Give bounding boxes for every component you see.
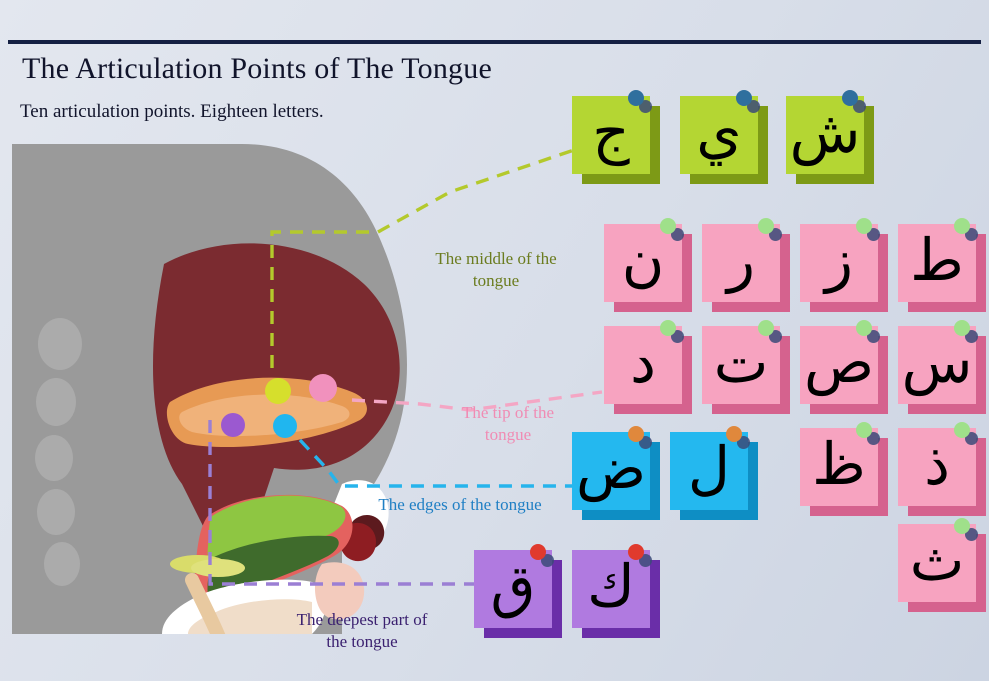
label-tip-of-tongue: The tip of the tongue — [418, 402, 598, 446]
label-edges-of-tongue: The edges of the tongue — [340, 494, 580, 516]
label-middle-line2: tongue — [396, 270, 596, 292]
mouth-cross-section-diagram — [12, 144, 412, 634]
page-subtitle: Ten articulation points. Eighteen letter… — [20, 101, 324, 123]
card-kaf[interactable]: ك — [572, 550, 660, 638]
page-title: The Articulation Points of The Tongue — [22, 52, 492, 86]
pushpin-icon — [954, 218, 970, 234]
pushpin-icon — [856, 218, 872, 234]
label-deep-line1: The deepest part of — [262, 609, 462, 631]
pushpin-icon — [954, 422, 970, 438]
card-thaa-heavy[interactable]: ظ — [800, 428, 888, 516]
pushpin-icon — [628, 544, 644, 560]
card-raa[interactable]: ر — [702, 224, 790, 312]
card-sad[interactable]: ص — [800, 326, 888, 414]
card-thal[interactable]: ذ — [898, 428, 986, 516]
label-tip-line2: tongue — [418, 424, 598, 446]
pushpin-icon — [954, 518, 970, 534]
label-deep-line2: the tongue — [262, 631, 462, 653]
card-taa[interactable]: ت — [702, 326, 790, 414]
card-lam[interactable]: ل — [670, 432, 758, 520]
pushpin-icon — [758, 320, 774, 336]
pushpin-icon — [758, 218, 774, 234]
pushpin-icon — [856, 422, 872, 438]
pushpin-icon — [954, 320, 970, 336]
label-tip-line1: The tip of the — [418, 402, 598, 424]
card-qaf[interactable]: ق — [474, 550, 562, 638]
label-middle-line1: The middle of the — [396, 248, 596, 270]
title-rule — [8, 40, 981, 44]
pushpin-icon — [628, 90, 644, 106]
pushpin-icon — [660, 218, 676, 234]
card-zay[interactable]: ز — [800, 224, 888, 312]
slide-canvas: The Articulation Points of The Tongue Te… — [0, 0, 989, 681]
card-dad[interactable]: ض — [572, 432, 660, 520]
pushpin-icon — [530, 544, 546, 560]
card-thaa[interactable]: ث — [898, 524, 986, 612]
card-jeem[interactable]: ج — [572, 96, 660, 184]
card-yaa[interactable]: ي — [680, 96, 768, 184]
card-dal[interactable]: د — [604, 326, 692, 414]
pushpin-icon — [726, 426, 742, 442]
pushpin-icon — [856, 320, 872, 336]
card-noon[interactable]: ن — [604, 224, 692, 312]
card-taa-heavy[interactable]: ط — [898, 224, 986, 312]
label-middle-of-tongue: The middle of the tongue — [396, 248, 596, 292]
label-deepest-part-of-tongue: The deepest part of the tongue — [262, 609, 462, 653]
pushpin-icon — [628, 426, 644, 442]
pushpin-icon — [736, 90, 752, 106]
card-sheen[interactable]: ش — [786, 96, 874, 184]
card-seen[interactable]: س — [898, 326, 986, 414]
pushpin-icon — [660, 320, 676, 336]
pushpin-icon — [842, 90, 858, 106]
